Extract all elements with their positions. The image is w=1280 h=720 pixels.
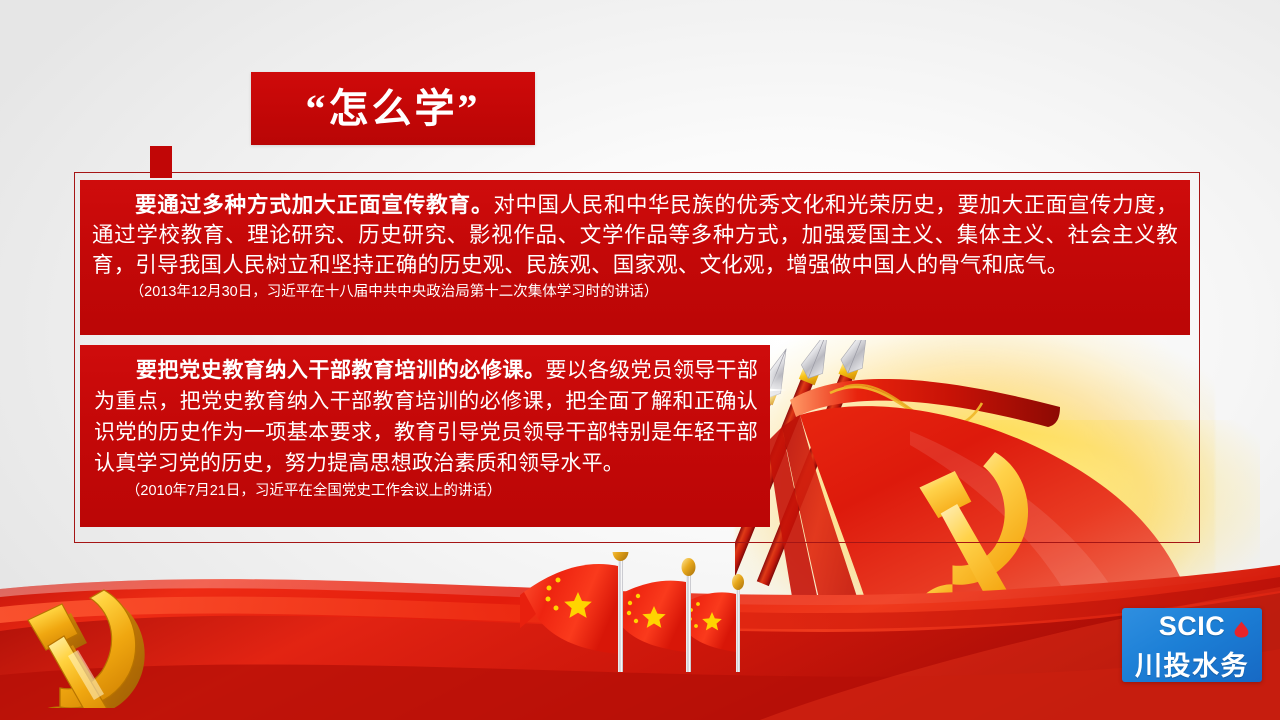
hammer-sickle-emblem-decoration bbox=[18, 578, 183, 708]
slide-title-banner: “怎么学” bbox=[251, 72, 535, 145]
quote-panel-1: 要通过多种方式加大正面宣传教育。对中国人民和中华民族的优秀文化和光荣历史，要加大… bbox=[80, 180, 1190, 335]
logo-droplet-icon bbox=[1233, 621, 1250, 638]
logo-line-2: 川投水务 bbox=[1122, 644, 1262, 682]
quote-2-lead: 要把党史教育纳入干部教育培训的必修课。 bbox=[136, 358, 546, 382]
quote-2-citation: （2010年7月21日，习近平在全国党史工作会议上的讲话） bbox=[94, 481, 758, 501]
quote-panel-2: 要把党史教育纳入干部教育培训的必修课。要以各级党员领导干部为重点，把党史教育纳入… bbox=[80, 345, 770, 527]
quote-1-text: 要通过多种方式加大正面宣传教育。对中国人民和中华民族的优秀文化和光荣历史，要加大… bbox=[92, 190, 1178, 280]
quote-2-text: 要把党史教育纳入干部教育培训的必修课。要以各级党员领导干部为重点，把党史教育纳入… bbox=[94, 355, 758, 479]
quote-1-citation: （2013年12月30日，习近平在十八届中共中央政治局第十二次集体学习时的讲话） bbox=[92, 282, 1178, 302]
title-connector-tab bbox=[150, 146, 172, 178]
scic-logo: SCIC 川投水务 bbox=[1122, 608, 1262, 682]
quote-1-lead: 要通过多种方式加大正面宣传教育。 bbox=[135, 193, 493, 217]
slide-canvas: “怎么学” 要通过多种方式加大正面宣传教育。对中国人民和中华民族的优秀文化和光荣… bbox=[0, 0, 1280, 720]
page-title: “怎么学” bbox=[306, 89, 481, 129]
prc-national-flags-decoration bbox=[520, 552, 820, 672]
